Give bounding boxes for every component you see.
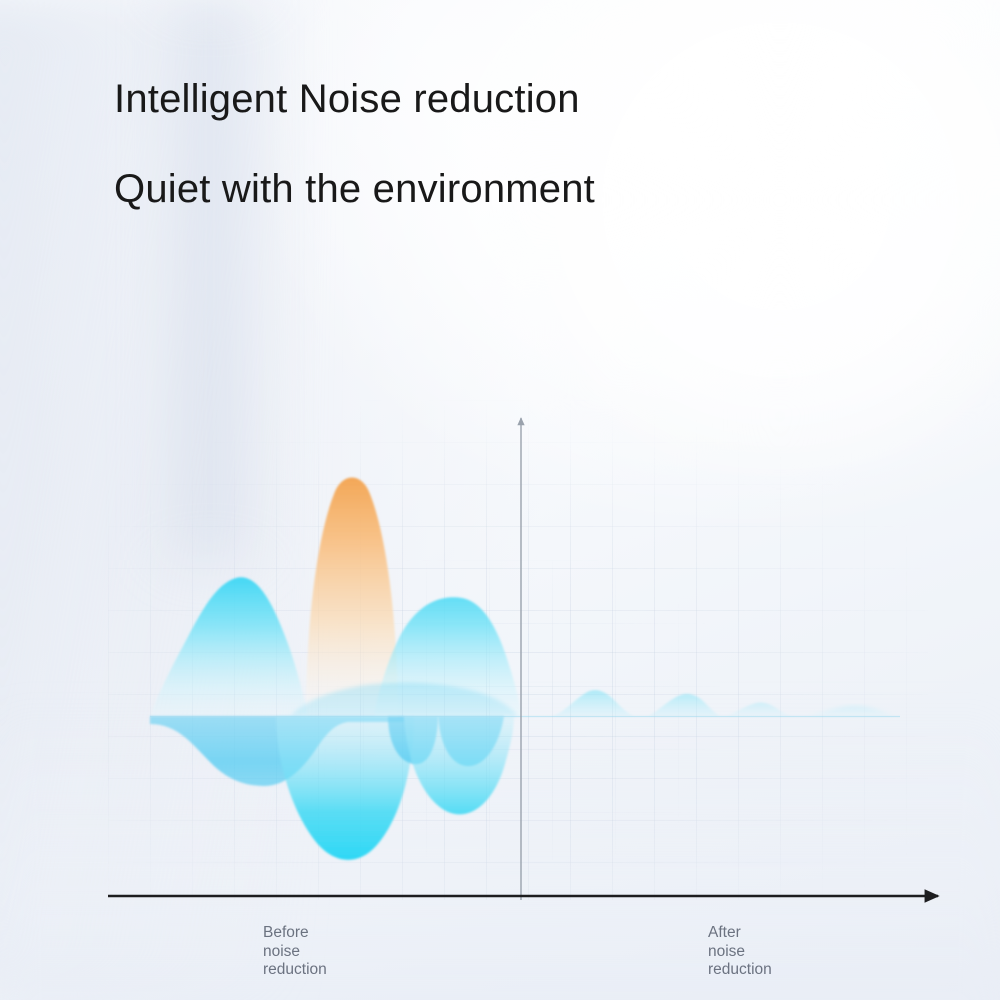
positive-lobe-left [150, 577, 308, 716]
caption-before-noise-reduction: Before noise reduction [263, 924, 327, 980]
after-bump-3 [726, 703, 794, 716]
waveform-negative-lobes [150, 716, 514, 860]
negative-lobe-right [404, 716, 514, 814]
after-bump-4 [806, 706, 900, 716]
after-bump-1 [552, 690, 634, 716]
poster-canvas: Intelligent Noise reduction Quiet with t… [0, 0, 1000, 1000]
waveform-chart [0, 0, 1000, 1000]
after-reduction-bumps [552, 690, 900, 716]
after-bump-2 [648, 694, 720, 716]
caption-after-noise-reduction: After noise reduction [708, 924, 772, 980]
